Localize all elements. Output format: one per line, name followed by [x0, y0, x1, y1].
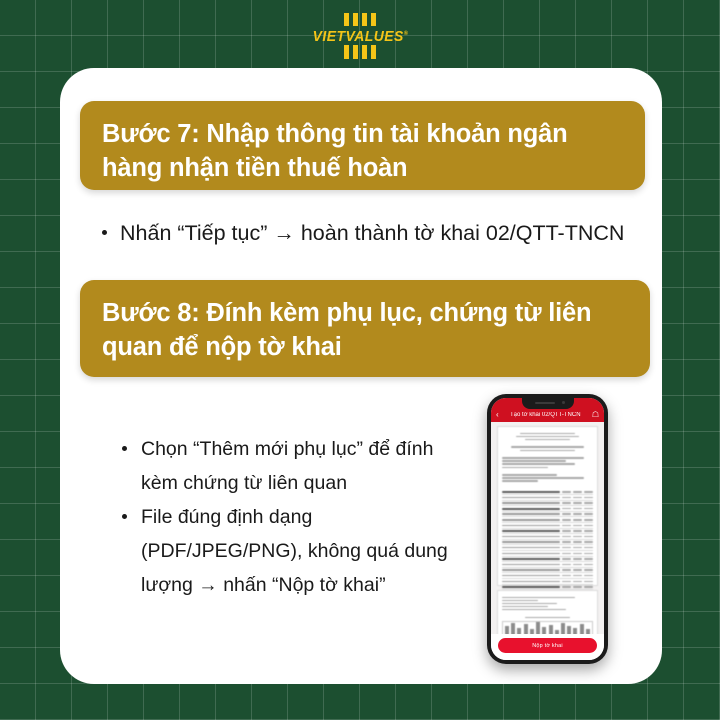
- step-7-banner: Bước 7: Nhập thông tin tài khoản ngân hà…: [80, 101, 645, 190]
- earpiece-speaker-icon: [535, 402, 555, 404]
- phone-screen: ‹ Tạo tờ khai 02/QTT-TNCN ☖: [491, 398, 604, 660]
- document-page-2: [497, 590, 598, 634]
- home-icon[interactable]: ☖: [592, 411, 599, 419]
- step-8-bullet-list: Chọn “Thêm mới phụ lục” để đính kèm chứn…: [118, 432, 463, 602]
- list-item: Chọn “Thêm mới phụ lục” để đính kèm chứn…: [118, 432, 463, 500]
- logo-bars-bottom-icon: [344, 45, 376, 58]
- submit-declaration-button[interactable]: Nộp tờ khai: [498, 638, 597, 653]
- registered-mark: ®: [403, 31, 408, 37]
- phone-mockup: ‹ Tạo tờ khai 02/QTT-TNCN ☖: [487, 394, 608, 664]
- list-item: File đúng định dạng (PDF/JPEG/PNG), khôn…: [118, 500, 463, 602]
- brand-name-text: VIETVALUES: [312, 28, 403, 45]
- phone-footer: Nộp tờ khai: [491, 634, 604, 660]
- declaration-document-preview[interactable]: [491, 422, 604, 634]
- slide-canvas: VIETVALUES® Bước 7: Nhập thông tin tài k…: [0, 0, 720, 720]
- step-8-banner: Bước 8: Đính kèm phụ lục, chứng từ liên …: [80, 280, 650, 377]
- list-item: Nhấn “Tiếp tục” → hoàn thành tờ khai 02/…: [98, 219, 643, 248]
- document-page-1: [497, 426, 598, 586]
- step-7-bullet-list: Nhấn “Tiếp tục” → hoàn thành tờ khai 02/…: [98, 219, 643, 248]
- front-camera-icon: [562, 401, 565, 404]
- brand-logo: VIETVALUES®: [0, 8, 720, 62]
- signature-strip: [502, 621, 593, 634]
- logo-bars-top-icon: [344, 13, 376, 26]
- phone-notch: [522, 398, 574, 409]
- app-header-title: Tạo tờ khai 02/QTT-TNCN: [499, 411, 592, 419]
- brand-name: VIETVALUES®: [312, 27, 408, 44]
